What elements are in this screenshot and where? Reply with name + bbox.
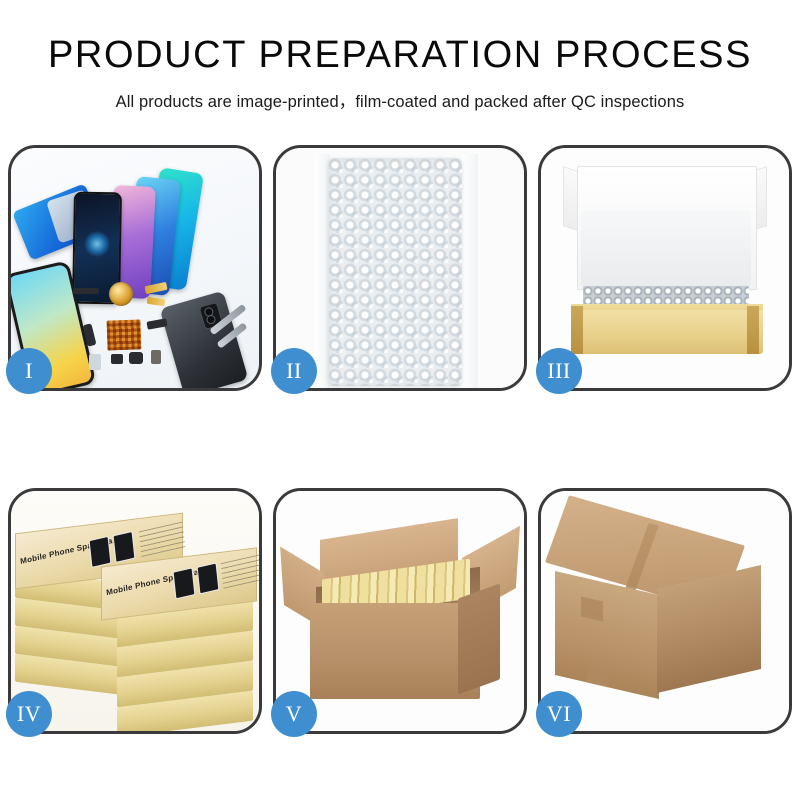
- step-badge-1: I: [6, 348, 52, 394]
- carton-front-panel: [310, 603, 480, 699]
- carton-right-face: [657, 565, 761, 693]
- step-panel-3: III: [538, 145, 792, 391]
- step-panel-5: V: [273, 488, 527, 734]
- box-stack: Mobile Phone Spare Parts Mobile Phone Sp…: [17, 505, 253, 723]
- step-badge-6: VI: [536, 691, 582, 737]
- box-product-photo-2: [113, 531, 136, 563]
- part-bar-icon: [73, 288, 99, 294]
- step-badge-3: III: [536, 348, 582, 394]
- box-product-photo-3: [173, 567, 196, 599]
- flex-cable-2-icon: [147, 297, 166, 306]
- step-panel-6: VI: [538, 488, 792, 734]
- bubble-wrap-icon: [328, 158, 462, 386]
- carton-side-panel: [458, 583, 500, 694]
- step-panel-2: II: [273, 145, 527, 391]
- stacked-boxes-illustration: Mobile Phone Spare Parts Mobile Phone Sp…: [11, 491, 259, 731]
- part-button-icon: [151, 350, 161, 364]
- phone-parts-illustration: [11, 148, 259, 388]
- step-panel-1: I: [8, 145, 262, 391]
- page-title: PRODUCT PREPARATION PROCESS: [0, 36, 800, 74]
- box-side-right: [747, 306, 759, 354]
- open-mailer-box-illustration: [541, 148, 789, 388]
- box-spec-lines-1: [139, 522, 185, 557]
- box-product-photo-4: [197, 562, 220, 594]
- speaker-coil-icon: [109, 282, 133, 306]
- chip-grid-icon: [106, 319, 141, 350]
- page-subtitle: All products are image-printed，film-coat…: [0, 88, 800, 112]
- header: PRODUCT PREPARATION PROCESS All products…: [0, 0, 800, 112]
- part-tray-icon: [89, 354, 101, 370]
- step-badge-5: V: [271, 691, 317, 737]
- phone-back-housing-icon: [160, 291, 249, 388]
- box-product-photo-1: [89, 536, 112, 568]
- part-vibrator-icon: [129, 352, 143, 364]
- part-small-icon: [111, 354, 123, 364]
- process-steps-grid: I II III: [8, 145, 792, 734]
- step-badge-2: II: [271, 348, 317, 394]
- step-badge-4: IV: [6, 691, 52, 737]
- box-spec-lines-2: [221, 553, 259, 588]
- open-carton-illustration: [276, 491, 524, 731]
- step-panel-4: Mobile Phone Spare Parts Mobile Phone Sp…: [8, 488, 262, 734]
- carton-handle-tab-lower: [587, 664, 609, 687]
- foam-liner-icon: [581, 210, 751, 286]
- bubble-wrap-illustration: [276, 148, 524, 388]
- sealed-carton-illustration: [541, 491, 789, 731]
- wrap-edge-right: [462, 154, 478, 388]
- box-side-left: [571, 306, 583, 354]
- box-front-panel: [571, 310, 763, 354]
